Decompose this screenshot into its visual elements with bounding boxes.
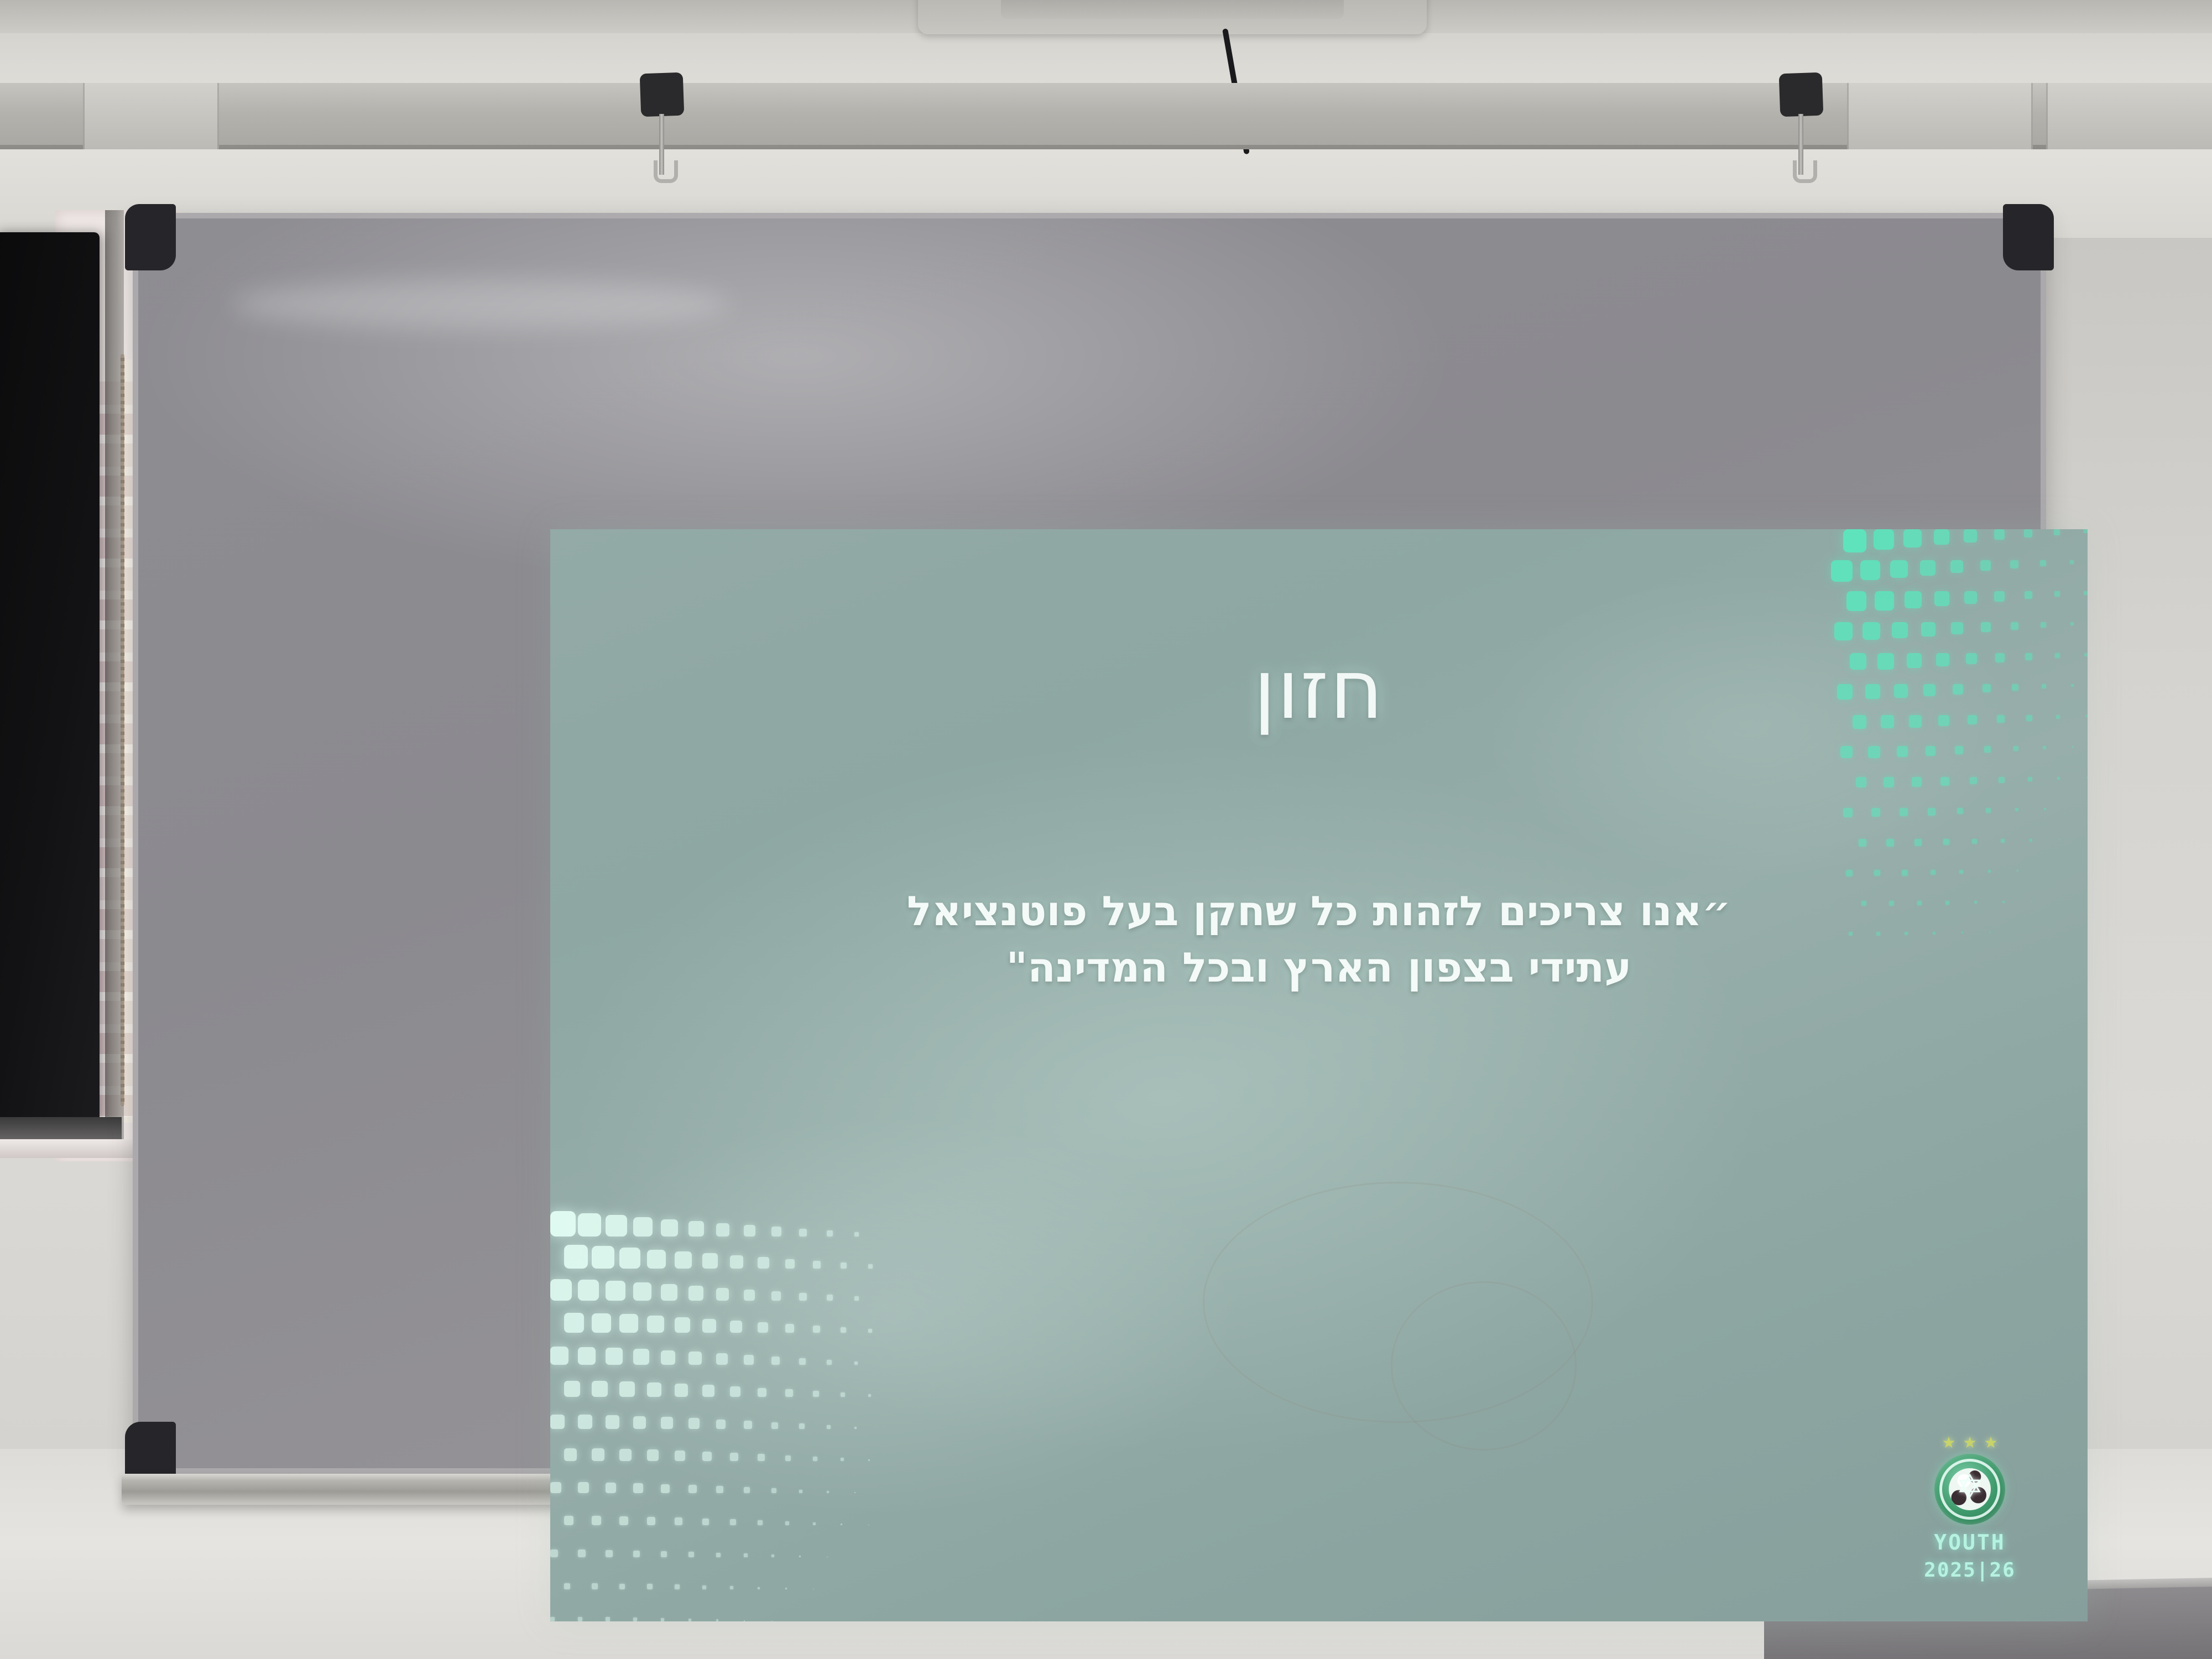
halftone-dot [799, 1358, 806, 1365]
halftone-dot [688, 1485, 697, 1493]
halftone-dot [2072, 746, 2074, 748]
halftone-dot [1846, 870, 1853, 877]
halftone-dot [868, 1459, 870, 1461]
halftone-dot [1943, 839, 1949, 845]
halftone-dot [592, 1381, 608, 1397]
halftone-dot [688, 1619, 691, 1621]
halftone-dot [785, 1588, 787, 1589]
halftone-dot [702, 1519, 709, 1525]
halftone-dot [2028, 777, 2032, 781]
hanger-hook [1793, 160, 1817, 183]
halftone-dot [1945, 901, 1949, 905]
halftone-dot [619, 1381, 635, 1397]
halftone-dot [1933, 932, 1936, 935]
halftone-dot [633, 1349, 649, 1365]
halftone-dot [744, 1620, 745, 1621]
halftone-dot [868, 1329, 872, 1333]
halftone-dot [841, 1524, 842, 1525]
halftone-dot [1920, 560, 1936, 576]
halftone-dot [785, 1521, 789, 1525]
halftone-dot [633, 1618, 637, 1621]
halftone-dot [2084, 529, 2088, 533]
halftone-dot [716, 1353, 728, 1365]
halftone-dot [1897, 746, 1908, 757]
whiteboard-hanger-right [1792, 121, 1811, 187]
slide-body: ״אנו צריכים לזהות כל שחקן בעל פוטנציאל ע… [716, 883, 1922, 996]
halftone-dot [592, 1313, 611, 1333]
halftone-dot [619, 1516, 628, 1525]
halftone-dot [1951, 622, 1963, 634]
halftone-dot [1886, 839, 1894, 847]
halftone-dot [2002, 901, 2005, 903]
beam-block-right [1847, 83, 2033, 149]
halftone-dot [716, 1223, 729, 1237]
halftone-dot [647, 1316, 664, 1333]
halftone-dot [1990, 932, 1991, 933]
halftone-dot [688, 1418, 700, 1429]
halftone-dot [2025, 591, 2032, 599]
beam-block-left [83, 83, 219, 149]
halftone-dot [2084, 591, 2088, 595]
halftone-dot [744, 1487, 750, 1493]
halftone-dot [2043, 746, 2046, 749]
halftone-dot [2044, 808, 2046, 810]
hanger-pad [640, 72, 685, 117]
halftone-dot [730, 1453, 738, 1461]
halftone-dot [2046, 870, 2047, 871]
board-ghost-mark [1203, 1182, 1593, 1423]
halftone-dot [744, 1553, 748, 1557]
halftone-dot [1940, 777, 1949, 786]
halftone-dot [606, 1348, 623, 1365]
slide-body-line-1: ״אנו צריכים לזהות כל שחקן בעל פוטנציאל [716, 883, 1922, 940]
halftone-dot [564, 1381, 580, 1397]
halftone-dot [1874, 529, 1894, 550]
halftone-dot [2040, 560, 2046, 566]
halftone-dot [716, 1486, 723, 1493]
halftone-dot [1950, 560, 1963, 573]
halftone-dot [2070, 622, 2074, 625]
halftone-dot [868, 1264, 873, 1269]
halftone-dot [1871, 808, 1880, 817]
halftone-dot [564, 1245, 588, 1269]
halftone-dot [2031, 901, 2032, 902]
halftone-dot [813, 1261, 821, 1269]
halftone-dot [730, 1255, 743, 1269]
halftone-dot [1868, 746, 1880, 758]
halftone-dot [2030, 839, 2032, 842]
halftone-dot [2073, 808, 2074, 809]
crest-star-icon: ★ [1963, 1435, 1976, 1451]
crest-star-icon: ★ [1984, 1435, 1998, 1451]
halftone-dot [785, 1324, 794, 1333]
halftone-dot [799, 1490, 802, 1493]
halftone-dot [716, 1553, 721, 1557]
halftone-dot [813, 1589, 814, 1590]
whiteboard-hanger-left [653, 121, 671, 187]
halftone-dot [647, 1449, 659, 1461]
halftone-dot [578, 1347, 596, 1365]
halftone-dot [1840, 746, 1853, 758]
halftone-dot [578, 1415, 592, 1429]
halftone-dot [841, 1262, 847, 1269]
halftone-dot [1955, 746, 1963, 754]
halftone-dot [675, 1317, 690, 1333]
halftone-dot [758, 1388, 766, 1397]
halftone-dot [619, 1248, 640, 1269]
halftone-dot [1875, 591, 1894, 611]
halftone-dot [1926, 746, 1936, 756]
halftone-dot [661, 1551, 667, 1557]
halftone-dot [868, 1525, 869, 1526]
ceiling-fixture [918, 0, 1427, 34]
halftone-dot [827, 1557, 828, 1558]
club-crest-icon: ✡ [1934, 1454, 2005, 1525]
halftone-dot [1905, 591, 1922, 608]
halftone-dot [841, 1327, 846, 1333]
crest-label: YOUTH [1917, 1530, 2022, 1554]
halftone-dot [1843, 808, 1853, 817]
halftone-dot [592, 1246, 614, 1269]
halftone-dot [827, 1360, 832, 1365]
halftone-dot [1994, 529, 2005, 540]
halftone-dot [702, 1452, 712, 1461]
slide-title: חזון [550, 642, 2088, 737]
halftone-dot [2017, 870, 2018, 872]
halftone-dot [799, 1423, 805, 1429]
halftone-dot [744, 1290, 755, 1301]
projected-slide: חזון ״אנו צריכים לזהות כל שחקן בעל פוטנצ… [550, 529, 2088, 1621]
halftone-dot [1903, 529, 1922, 547]
halftone-dot [2057, 777, 2060, 780]
crest-star-icon: ★ [1942, 1435, 1955, 1451]
halftone-dot [578, 1280, 599, 1301]
halftone-dot [1921, 622, 1936, 637]
halftone-pattern-bottom-left [550, 1179, 882, 1621]
halftone-dot [550, 1347, 568, 1365]
halftone-dot [647, 1584, 653, 1589]
halftone-dot [785, 1259, 795, 1269]
halftone-dot [661, 1417, 673, 1429]
halftone-dot [716, 1288, 729, 1301]
halftone-dot [1890, 560, 1908, 578]
halftone-dot [675, 1584, 680, 1589]
hanger-hook [654, 160, 678, 183]
halftone-dot [771, 1291, 781, 1301]
window-sill [0, 1139, 133, 1158]
halftone-dot [758, 1520, 763, 1525]
halftone-dot [854, 1296, 859, 1301]
halftone-dot [771, 1554, 774, 1557]
halftone-dot [1831, 560, 1853, 582]
halftone-dot [1986, 808, 1991, 813]
halftone-dot [2054, 529, 2060, 535]
halftone-dot [578, 1482, 589, 1493]
halftone-dot [841, 1392, 845, 1397]
halftone-dot [1988, 870, 1991, 873]
halftone-dot [2001, 839, 2005, 843]
halftone-dot [619, 1584, 625, 1589]
halftone-dot [1981, 622, 1991, 632]
halftone-dot [1884, 777, 1894, 787]
halftone-dot [730, 1586, 733, 1589]
halftone-dot [619, 1449, 632, 1461]
halftone-dot [758, 1322, 768, 1333]
halftone-dot [2059, 839, 2060, 840]
crest-season: 2025|26 [1917, 1559, 2022, 1582]
beam-block-far-right [2046, 83, 2212, 149]
halftone-dot [771, 1422, 778, 1429]
halftone-dot [758, 1257, 769, 1269]
halftone-dot [1856, 777, 1866, 787]
halftone-dot [730, 1321, 742, 1333]
halftone-dot [1928, 808, 1936, 816]
halftone-dot [550, 1482, 561, 1493]
board-ghost-mark [1391, 1281, 1577, 1451]
halftone-dot [550, 1415, 565, 1429]
halftone-dot [606, 1483, 616, 1493]
halftone-dot [1974, 901, 1977, 904]
halftone-dot [688, 1552, 694, 1557]
halftone-dot [813, 1522, 816, 1525]
halftone-dot [771, 1227, 781, 1237]
halftone-dot [675, 1251, 692, 1269]
halftone-dot [647, 1250, 666, 1269]
halftone-dot [564, 1516, 573, 1525]
halftone-dot [688, 1221, 704, 1237]
halftone-dot [564, 1448, 577, 1461]
halftone-dot [647, 1517, 655, 1525]
halftone-dot [2011, 622, 2018, 630]
halftone-dot [1863, 622, 1880, 640]
halftone-dot [799, 1229, 807, 1237]
halftone-dot [633, 1217, 653, 1237]
halftone-dot [550, 1550, 558, 1557]
halftone-dot [550, 1617, 555, 1621]
halftone-dot [799, 1293, 807, 1301]
hanger-pad [1779, 72, 1824, 117]
wall-monitor [0, 232, 100, 1123]
classroom-scene: חזון ״אנו צריכים לזהות כל שחקן בעל פוטנצ… [0, 0, 2212, 1659]
halftone-dot [606, 1281, 625, 1301]
halftone-dot [702, 1253, 718, 1269]
halftone-dot [827, 1425, 831, 1429]
halftone-dot [1961, 932, 1963, 933]
halftone-dot [854, 1492, 855, 1493]
door-jamb [105, 210, 124, 1150]
halftone-dot [813, 1457, 817, 1461]
halftone-dot [1892, 622, 1908, 638]
halftone-dot [799, 1556, 801, 1557]
halftone-dot [1970, 777, 1977, 784]
halftone-dot [633, 1416, 646, 1429]
whiteboard-corner-top-right [2003, 204, 2054, 270]
halftone-dot [2010, 560, 2018, 568]
halftone-dot [1934, 529, 1949, 545]
halftone-dot [675, 1451, 685, 1461]
slide-body-line-2: עתידי בצפון הארץ ובכל המדינה" [716, 940, 1922, 996]
halftone-dot [633, 1551, 640, 1557]
halftone-dot [854, 1427, 857, 1429]
halftone-dot [702, 1385, 714, 1397]
halftone-dot [619, 1314, 638, 1333]
halftone-dot [771, 1621, 773, 1622]
halftone-dot [744, 1225, 755, 1237]
halftone-dot [564, 1583, 570, 1589]
halftone-dot [771, 1357, 780, 1365]
halftone-dot [550, 1211, 576, 1237]
halftone-dot [1843, 529, 1866, 552]
halftone-dot [688, 1352, 702, 1365]
halftone-dot [675, 1384, 688, 1397]
halftone-dot [647, 1383, 661, 1397]
halftone-dot [1959, 870, 1963, 874]
halftone-dot [661, 1618, 664, 1621]
halftone-dot [813, 1326, 820, 1333]
halftone-dot [827, 1295, 833, 1301]
halftone-dot [1994, 591, 2005, 602]
halftone-dot [1984, 746, 1991, 753]
halftone-dot [578, 1550, 586, 1557]
halftone-dot [564, 1313, 584, 1333]
halftone-dot [688, 1286, 703, 1301]
halftone-dot [716, 1420, 726, 1429]
halftone-dot [2015, 808, 2018, 811]
whiteboard: חזון ״אנו צריכים לזהות כל שחקן בעל פוטנצ… [133, 213, 2046, 1474]
halftone-dot [1964, 529, 1977, 542]
halftone-dot [868, 1394, 871, 1397]
halftone-dot [2024, 529, 2032, 538]
halftone-dot [716, 1619, 718, 1621]
halftone-dot [1972, 839, 1977, 844]
halftone-dot [702, 1585, 706, 1589]
halftone-dot [758, 1454, 765, 1461]
halftone-dot [2041, 622, 2046, 628]
halftone-dot [606, 1617, 610, 1621]
halftone-dot [813, 1391, 819, 1397]
halftone-dot [592, 1448, 604, 1461]
halftone-dot [606, 1550, 613, 1557]
crest-stars: ★ ★ ★ [1917, 1435, 2022, 1451]
halftone-dot [578, 1213, 601, 1237]
halftone-dot [633, 1483, 643, 1493]
halftone-dot [1902, 870, 1908, 876]
halftone-dot [785, 1389, 793, 1397]
halftone-dot [744, 1421, 752, 1429]
halftone-dot [854, 1232, 859, 1237]
halftone-dot [1900, 808, 1908, 816]
halftone-dot [1859, 839, 1866, 847]
halftone-dot [633, 1282, 651, 1301]
halftone-dot [702, 1319, 716, 1333]
halftone-dot [827, 1230, 833, 1237]
halftone-dot [550, 1279, 572, 1301]
halftone-dot [854, 1361, 858, 1365]
halftone-dot [675, 1517, 682, 1525]
halftone-dot [1874, 870, 1880, 876]
halftone-dot [2054, 591, 2060, 597]
halftone-dot [1914, 839, 1922, 846]
halftone-dot [1980, 560, 1991, 571]
halftone-dot [592, 1516, 601, 1525]
club-crest-block: ★ ★ ★ ✡ YOUTH 2025|26 [1917, 1435, 2022, 1582]
halftone-dot [1964, 591, 1977, 604]
halftone-dot [1957, 808, 1963, 814]
halftone-dot [827, 1491, 829, 1493]
halftone-dot [606, 1415, 619, 1429]
halftone-dot [2013, 746, 2018, 751]
halftone-dot [661, 1219, 678, 1237]
halftone-dot [1931, 870, 1936, 875]
whiteboard-corner-top-left [125, 204, 176, 270]
board-smudge [232, 279, 730, 329]
halftone-dot [785, 1455, 791, 1461]
star-of-david-icon: ✡ [1953, 1470, 1986, 1504]
halftone-dot [1934, 591, 1949, 606]
halftone-dot [1912, 777, 1922, 787]
halftone-dot [1846, 591, 1866, 611]
halftone-dot [661, 1350, 675, 1365]
halftone-dot [841, 1458, 844, 1461]
halftone-dot [2070, 560, 2074, 564]
halftone-dot [1999, 777, 2005, 783]
halftone-dot [758, 1587, 760, 1589]
halftone-dot [1860, 560, 1880, 580]
halftone-dot [1834, 622, 1853, 640]
halftone-dot [661, 1284, 677, 1301]
halftone-dot [661, 1484, 670, 1493]
halftone-dot [730, 1519, 736, 1525]
halftone-dot [606, 1215, 627, 1237]
halftone-dot [578, 1617, 582, 1621]
halftone-dot [730, 1386, 740, 1397]
halftone-dot [744, 1355, 754, 1365]
halftone-dot [2086, 777, 2088, 778]
halftone-dot [592, 1583, 598, 1589]
halftone-dot [771, 1488, 776, 1493]
